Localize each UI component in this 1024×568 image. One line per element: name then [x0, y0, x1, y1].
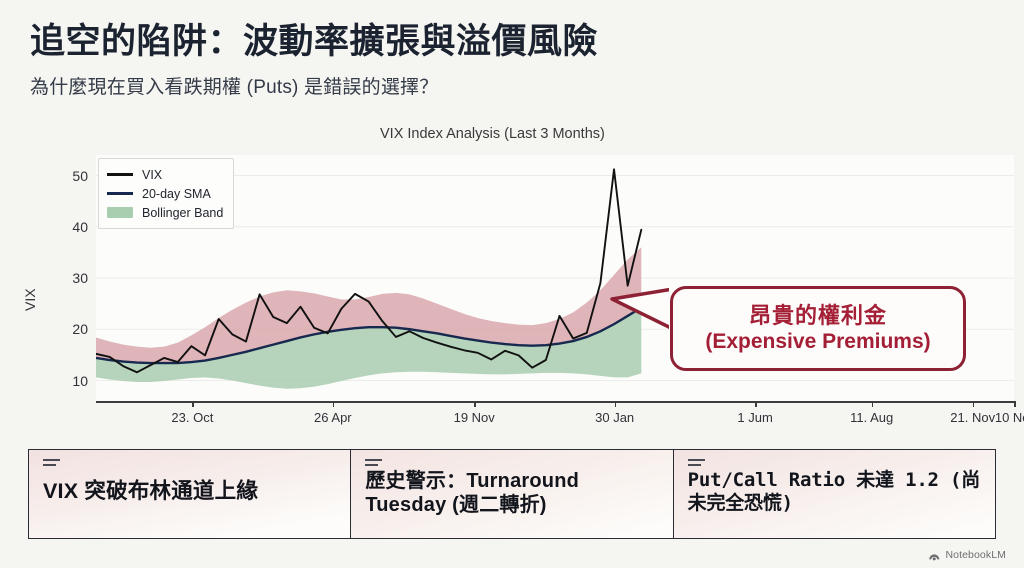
legend-swatch-icon	[107, 173, 133, 176]
lines-icon	[43, 459, 60, 468]
x-tick-mark	[1014, 401, 1016, 407]
key-point-card-2[interactable]: 歷史警示：Turnaround Tuesday (週二轉折)	[351, 449, 673, 539]
watermark-label: NotebookLM	[945, 549, 1006, 561]
x-tick-mark	[333, 401, 335, 407]
x-tick-mark	[872, 401, 874, 407]
legend-item-2[interactable]: Bollinger Band	[107, 203, 223, 222]
chart-legend: VIX20-day SMABollinger Band	[98, 158, 234, 229]
page-subtitle: 為什麼現在買入看跌期權 (Puts) 是錯誤的選擇？	[30, 72, 930, 99]
x-tick-label: 23. Oct	[171, 410, 213, 425]
page-title: 追空的陷阱：波動率擴張與溢價風險	[30, 22, 930, 61]
legend-label: VIX	[142, 168, 162, 182]
legend-label: 20-day SMA	[142, 187, 211, 201]
legend-swatch-icon	[107, 207, 133, 218]
x-tick-label: 19 Nov	[454, 410, 495, 425]
x-tick-label: 1 Jum	[737, 410, 772, 425]
key-point-card-3-text: Put/Call Ratio 未達 1.2 (尚未完全恐慌)	[688, 469, 983, 515]
y-tick-50: 50	[72, 168, 88, 184]
legend-item-0[interactable]: VIX	[107, 165, 223, 184]
x-tick-mark	[474, 401, 476, 407]
key-point-card-3[interactable]: Put/Call Ratio 未達 1.2 (尚未完全恐慌)	[674, 449, 996, 539]
y-tick-40: 40	[72, 219, 88, 235]
y-tick-10: 10	[72, 373, 88, 389]
x-tick-label: 10 Not	[995, 410, 1024, 425]
y-axis-ticks: 1020304050	[30, 155, 88, 401]
x-axis-line	[96, 401, 1014, 403]
lines-icon	[365, 459, 382, 468]
legend-label: Bollinger Band	[142, 206, 223, 220]
notebooklm-logo-icon	[928, 550, 941, 561]
x-tick-label: 11. Aug	[850, 410, 893, 425]
callout-bubble: 昂貴的權利金 (Expensive Premiums)	[670, 286, 966, 371]
x-tick-mark	[973, 401, 975, 407]
watermark: NotebookLM	[928, 549, 1006, 561]
y-tick-30: 30	[72, 270, 88, 286]
lines-icon	[688, 459, 705, 468]
callout-title: 昂貴的權利金	[749, 302, 887, 330]
x-tick-mark	[192, 401, 194, 407]
key-point-card-1[interactable]: VIX 突破布林通道上緣	[28, 449, 351, 539]
vix-chart: VIX Index Analysis (Last 3 Months) VIX 1…	[0, 126, 1024, 436]
legend-swatch-icon	[107, 192, 133, 195]
x-tick-mark	[615, 401, 617, 407]
x-tick-mark	[755, 401, 757, 407]
callout-subtitle: (Expensive Premiums)	[705, 329, 930, 355]
y-tick-20: 20	[72, 321, 88, 337]
key-point-card-2-text: 歷史警示：Turnaround Tuesday (週二轉折)	[365, 469, 660, 518]
chart-title: VIX Index Analysis (Last 3 Months)	[0, 126, 1024, 142]
slide-root: 追空的陷阱：波動率擴張與溢價風險 為什麼現在買入看跌期權 (Puts) 是錯誤的…	[0, 0, 1024, 568]
key-points-cards: VIX 突破布林通道上緣 歷史警示：Turnaround Tuesday (週二…	[28, 449, 996, 539]
x-tick-label: 21. Nov	[950, 410, 995, 425]
legend-item-1[interactable]: 20-day SMA	[107, 184, 223, 203]
x-tick-label: 26 Apr	[314, 410, 352, 425]
key-point-card-1-text: VIX 突破布林通道上緣	[43, 478, 338, 504]
header: 追空的陷阱：波動率擴張與溢價風險 為什麼現在買入看跌期權 (Puts) 是錯誤的…	[30, 22, 930, 99]
x-tick-label: 30 Jan	[595, 410, 634, 425]
